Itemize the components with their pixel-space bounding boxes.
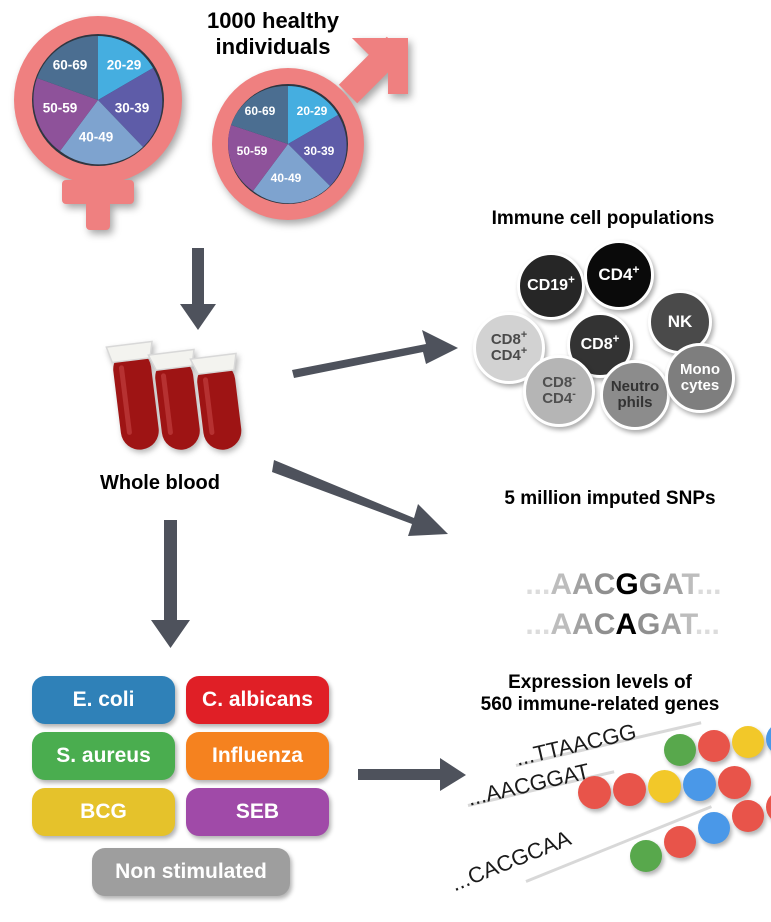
age-label-30-39: 30-39 xyxy=(115,101,150,116)
dna-bead xyxy=(630,840,662,872)
blood-tubes xyxy=(95,330,255,465)
dna-bead xyxy=(766,723,771,755)
male-gender-symbol: 20-29 30-39 40-49 50-59 60-69 xyxy=(200,28,420,244)
dna-bead xyxy=(698,812,730,844)
dna-bead xyxy=(732,726,764,758)
cohort-to-blood-arrow xyxy=(176,248,220,332)
figure-canvas: 20-29 30-39 40-49 50-59 60-69 20-29 30-3… xyxy=(0,0,771,922)
snp-suffix-dots: ... xyxy=(695,608,720,641)
stimulus-button-s-aureus[interactable]: S. aureus xyxy=(32,732,175,780)
dna-bead xyxy=(718,766,751,799)
dna-bead xyxy=(664,826,696,858)
snp-tail-A: A xyxy=(660,608,679,641)
stimulus-button-seb[interactable]: SEB xyxy=(186,788,329,836)
snp-tail-T: T xyxy=(680,608,695,641)
page-title-line2: individuals xyxy=(178,34,368,60)
stimulus-label: SEB xyxy=(236,800,279,824)
snp-tail-G: G xyxy=(637,608,660,641)
dna-bead xyxy=(766,791,771,823)
immune-bubble-label: CD8-CD4- xyxy=(542,375,576,406)
immune-bubble-label: Monocytes xyxy=(680,362,720,393)
immune-bubble-nk: NK xyxy=(648,290,712,354)
dna-sequence-text: ...CACGCAA xyxy=(447,825,575,897)
age-label-50-59: 50-59 xyxy=(43,101,78,116)
expression-title: Expression levels of 560 immune-related … xyxy=(440,672,760,717)
age-label-30-39-male: 30-39 xyxy=(304,144,335,158)
stimulus-label: S. aureus xyxy=(56,744,151,768)
immune-bubble-label: CD8+ xyxy=(581,337,620,354)
stimulus-button-non-stimulated[interactable]: Non stimulated xyxy=(92,848,290,896)
immune-bubble-neutrophils: Neutrophils xyxy=(600,360,670,430)
snps-title: 5 million imputed SNPs xyxy=(460,488,760,510)
page-title: 1000 healthy individuals xyxy=(178,8,368,60)
age-label-50-59-male: 50-59 xyxy=(237,144,268,158)
immune-bubble-label: CD8+CD4+ xyxy=(491,332,527,363)
age-label-20-29: 20-29 xyxy=(107,58,142,73)
snp-sequence-row-2: ...AACAGAT... xyxy=(492,574,720,676)
stimulus-label: Non stimulated xyxy=(115,860,267,884)
immune-bubble-cd8pos: CD8+ xyxy=(567,312,633,378)
stimulus-label: BCG xyxy=(80,800,127,824)
blood-to-immune-arrow xyxy=(290,330,460,380)
immune-bubble-cd8neg-cd4neg: CD8-CD4- xyxy=(523,355,595,427)
age-label-60-69: 60-69 xyxy=(53,58,88,73)
immune-bubble-cd4pos: CD4+ xyxy=(584,240,654,310)
dna-bead xyxy=(698,730,730,762)
immune-bubble-label: Neutrophils xyxy=(611,379,659,410)
stimulus-button-e-coli[interactable]: E. coli xyxy=(32,676,175,724)
immune-bubble-cd19pos: CD19+ xyxy=(517,252,585,320)
whole-blood-label: Whole blood xyxy=(60,472,260,496)
stimulus-label: E. coli xyxy=(73,688,135,712)
stimulus-label: Influenza xyxy=(212,744,303,768)
immune-bubble-monocytes: Monocytes xyxy=(665,343,735,413)
stimulus-button-c-albicans[interactable]: C. albicans xyxy=(186,676,329,724)
expression-title-line2: 560 immune-related genes xyxy=(440,694,760,716)
snp-lead-A2: A xyxy=(572,608,594,641)
female-gender-symbol: 20-29 30-39 40-49 50-59 60-69 xyxy=(8,8,198,240)
immune-bubble-cd8pos-cd4pos: CD8+CD4+ xyxy=(473,312,545,384)
age-label-40-49: 40-49 xyxy=(79,130,114,145)
stimuli-to-expression-arrow xyxy=(358,758,468,792)
snp-highlight-base: A xyxy=(615,608,637,641)
blood-to-snps-arrow xyxy=(272,452,462,542)
stimulus-button-bcg[interactable]: BCG xyxy=(32,788,175,836)
blood-to-stimuli-arrow xyxy=(148,520,196,650)
page-title-line1: 1000 healthy xyxy=(178,8,368,34)
snp-lead-C: C xyxy=(594,608,616,641)
stimulus-label: C. albicans xyxy=(202,688,313,712)
age-label-20-29-male: 20-29 xyxy=(297,104,328,118)
immune-bubble-label: CD19+ xyxy=(527,278,575,295)
immune-cell-populations-title: Immune cell populations xyxy=(448,208,758,230)
age-label-60-69-male: 60-69 xyxy=(245,104,276,118)
snp-prefix-dots: ... xyxy=(525,608,550,641)
immune-bubble-label: CD4+ xyxy=(598,266,639,284)
expression-title-line1: Expression levels of xyxy=(440,672,760,694)
stimulus-button-influenza[interactable]: Influenza xyxy=(186,732,329,780)
dna-bead xyxy=(732,800,764,832)
snp-lead-A: A xyxy=(550,608,572,641)
dna-bead xyxy=(664,734,696,766)
dna-strand-3: ...CACGCAA xyxy=(548,796,771,886)
age-label-40-49-male: 40-49 xyxy=(271,171,302,185)
immune-bubble-label: NK xyxy=(668,313,693,331)
